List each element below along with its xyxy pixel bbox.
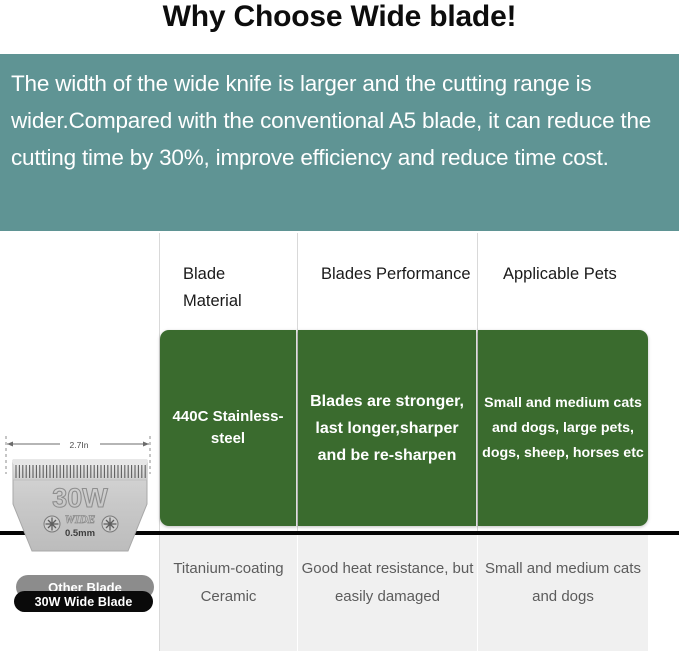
comparison-table: Blade Material Blades Performance Applic… (0, 231, 679, 651)
intro-banner: The width of the wide knife is larger an… (0, 54, 679, 231)
wide-blade-material-cell: 440C Stainless-steel (160, 330, 297, 526)
page-title: Why Choose Wide blade! (0, 0, 679, 36)
wide-blade-pets-cell: Small and medium cats and dogs, large pe… (478, 330, 648, 526)
blade-size-label: 0.5mm (65, 528, 95, 539)
table-header-row: Blade Material Blades Performance Applic… (0, 231, 679, 330)
intro-banner-text: The width of the wide knife is larger an… (11, 65, 666, 176)
column-header-blades-performance: Blades Performance (321, 261, 471, 288)
wide-blade-performance-cell: Blades are stronger, last longer,sharper… (298, 330, 477, 526)
blade-dimension-label: 2.7In (70, 440, 89, 450)
blade-model-label: 30W (52, 483, 108, 513)
column-header-applicable-pets: Applicable Pets (503, 261, 643, 288)
blade-wide-label: WIDE (65, 514, 96, 526)
other-blade-pets-cell: Small and medium cats and dogs (478, 555, 648, 611)
other-blade-performance-cell: Good heat resistance, but easily damaged (298, 555, 477, 611)
table-row: 2.7In (0, 330, 679, 533)
column-header-blade-material: Blade Material (183, 261, 288, 315)
wide-blade-badge: 30W Wide Blade (14, 591, 153, 612)
wide-blade-illustration: 2.7In (0, 429, 159, 632)
other-blade-material-cell: Titanium-coating Ceramic (160, 555, 297, 611)
